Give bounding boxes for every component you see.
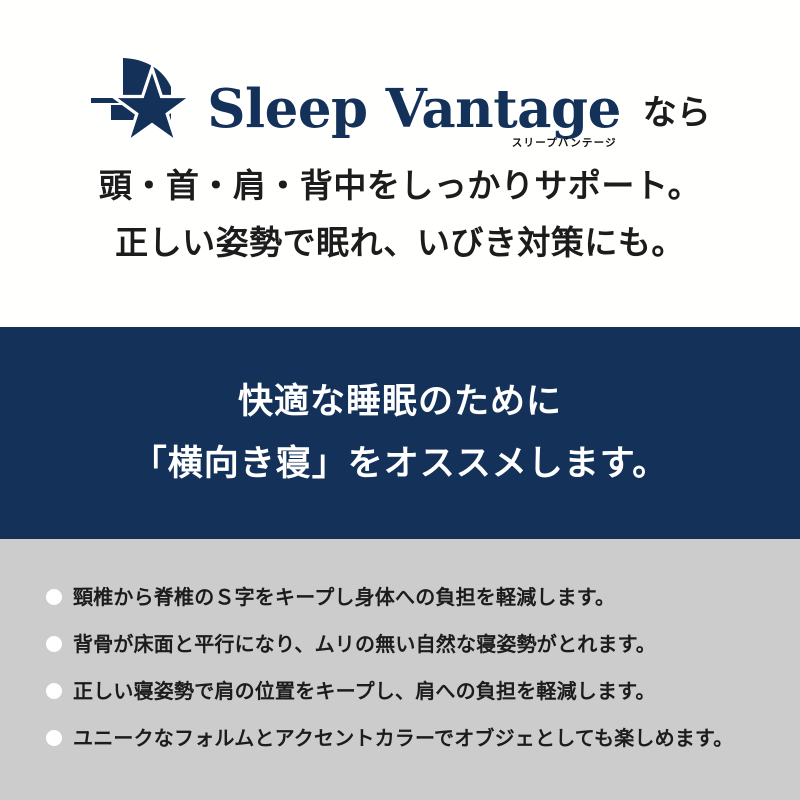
promo-page: Sleep Vantage スリープバンテージ なら 頭・首・肩・背中をしっかり…	[0, 0, 800, 800]
hero-line-1: 頭・首・肩・背中をしっかりサポート。	[99, 158, 701, 215]
hero-headline: 頭・首・肩・背中をしっかりサポート。 正しい姿勢で眠れ、いびき対策にも。	[99, 158, 701, 272]
hero-line-2: 正しい姿勢で眠れ、いびき対策にも。	[99, 215, 701, 272]
list-item: 背骨が床面と平行になり、ムリの無い自然な寝姿勢がとれます。	[46, 630, 800, 659]
banner-line-2: 「横向き寝」をオススメします。	[132, 433, 669, 495]
list-item-label: ユニークなフォルムとアクセントカラーでオブジェとしても楽しめます。	[73, 724, 733, 753]
features-section: 頸椎から脊椎のＳ字をキープし身体への負担を軽減します。 背骨が床面と平行になり、…	[0, 539, 800, 800]
list-item-label: 背骨が床面と平行になり、ムリの無い自然な寝姿勢がとれます。	[73, 630, 656, 659]
brand-wordmark: Sleep Vantage	[207, 84, 621, 136]
brand-wordmark-subtitle: スリープバンテージ	[512, 135, 617, 150]
bullet-circle-icon	[46, 589, 62, 605]
brand-suffix: なら	[643, 85, 711, 142]
list-item: 頸椎から脊椎のＳ字をキープし身体への負担を軽減します。	[46, 583, 800, 612]
list-item-label: 頸椎から脊椎のＳ字をキープし身体への負担を軽減します。	[73, 583, 615, 612]
list-item-label: 正しい寝姿勢で肩の位置をキープし、肩への負担を軽減します。	[73, 677, 656, 706]
list-item: 正しい寝姿勢で肩の位置をキープし、肩への負担を軽減します。	[46, 677, 800, 706]
banner-line-1: 快適な睡眠のために	[238, 371, 562, 433]
brand-row: Sleep Vantage スリープバンテージ なら	[89, 50, 711, 142]
hero-section: Sleep Vantage スリープバンテージ なら 頭・首・肩・背中をしっかり…	[0, 0, 800, 327]
brand-lockup: Sleep Vantage スリープバンテージ	[89, 50, 621, 142]
list-item: ユニークなフォルムとアクセントカラーでオブジェとしても楽しめます。	[46, 724, 800, 753]
bullet-circle-icon	[46, 636, 62, 652]
bullet-circle-icon	[46, 730, 62, 746]
bullet-circle-icon	[46, 683, 62, 699]
navy-banner-section: 快適な睡眠のために 「横向き寝」をオススメします。	[0, 327, 800, 539]
wordmark-wrap: Sleep Vantage スリープバンテージ	[207, 84, 621, 142]
sleep-vantage-star-logo-icon	[89, 54, 205, 142]
